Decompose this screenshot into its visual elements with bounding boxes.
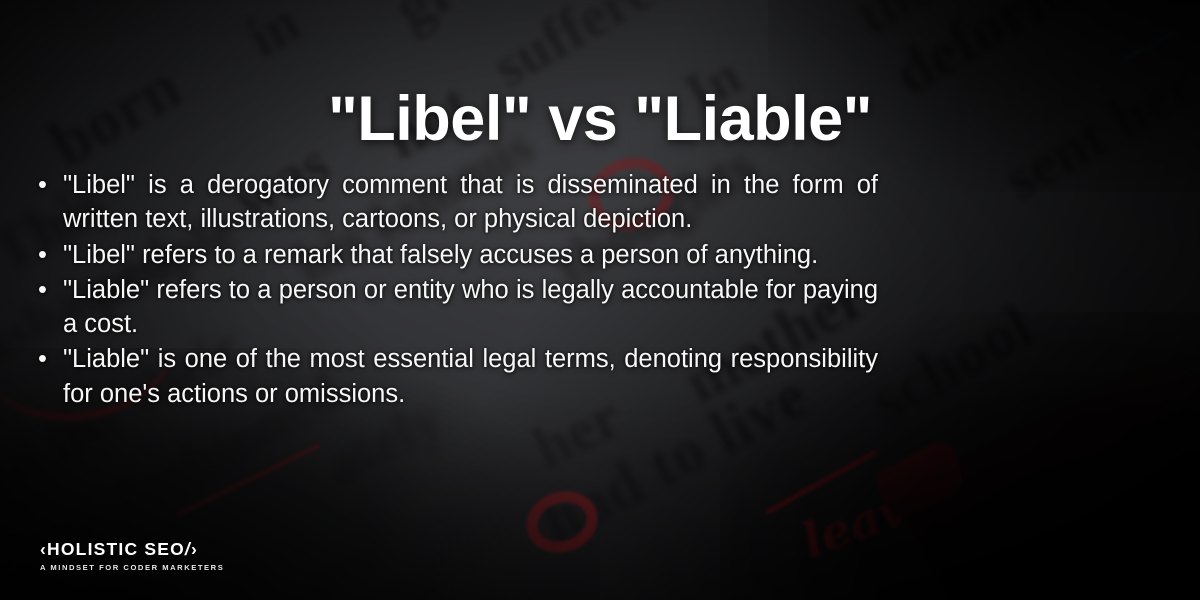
bullet-text: "Liable" is one of the most essential le…	[63, 342, 878, 411]
slide-canvas: s. born in was not great suffered In the…	[0, 0, 1200, 600]
bullet-text: "Libel" is a derogatory comment that is …	[63, 168, 878, 237]
bullet-marker-icon: •	[38, 342, 63, 376]
holistic-seo-logo[interactable]: ‹HOLISTIC SEO/› A MINDSET FOR CODER MARK…	[40, 540, 224, 572]
logo-name: HOLISTIC SEO	[47, 539, 185, 559]
logo-right-chevron-icon: ›	[191, 539, 198, 559]
logo-left-chevron-icon: ‹	[40, 539, 47, 559]
slide-content: "Libel" vs "Liable" • "Libel" is a derog…	[0, 0, 1200, 600]
list-item: • "Liable" is one of the most essential …	[38, 342, 878, 411]
bullet-marker-icon: •	[38, 238, 63, 272]
slide-title: "Libel" vs "Liable"	[0, 86, 1200, 152]
bullet-text: "Libel" refers to a remark that falsely …	[63, 238, 878, 272]
list-item: • "Libel" refers to a remark that falsel…	[38, 238, 878, 272]
bullet-marker-icon: •	[38, 273, 63, 307]
bullet-text: "Liable" refers to a person or entity wh…	[63, 273, 878, 342]
bullet-marker-icon: •	[38, 168, 63, 202]
bullet-list: • "Libel" is a derogatory comment that i…	[38, 168, 878, 412]
logo-wordmark: ‹HOLISTIC SEO/›	[40, 540, 224, 559]
logo-tagline: A MINDSET FOR CODER MARKETERS	[40, 563, 224, 572]
list-item: • "Libel" is a derogatory comment that i…	[38, 168, 878, 237]
list-item: • "Liable" refers to a person or entity …	[38, 273, 878, 342]
